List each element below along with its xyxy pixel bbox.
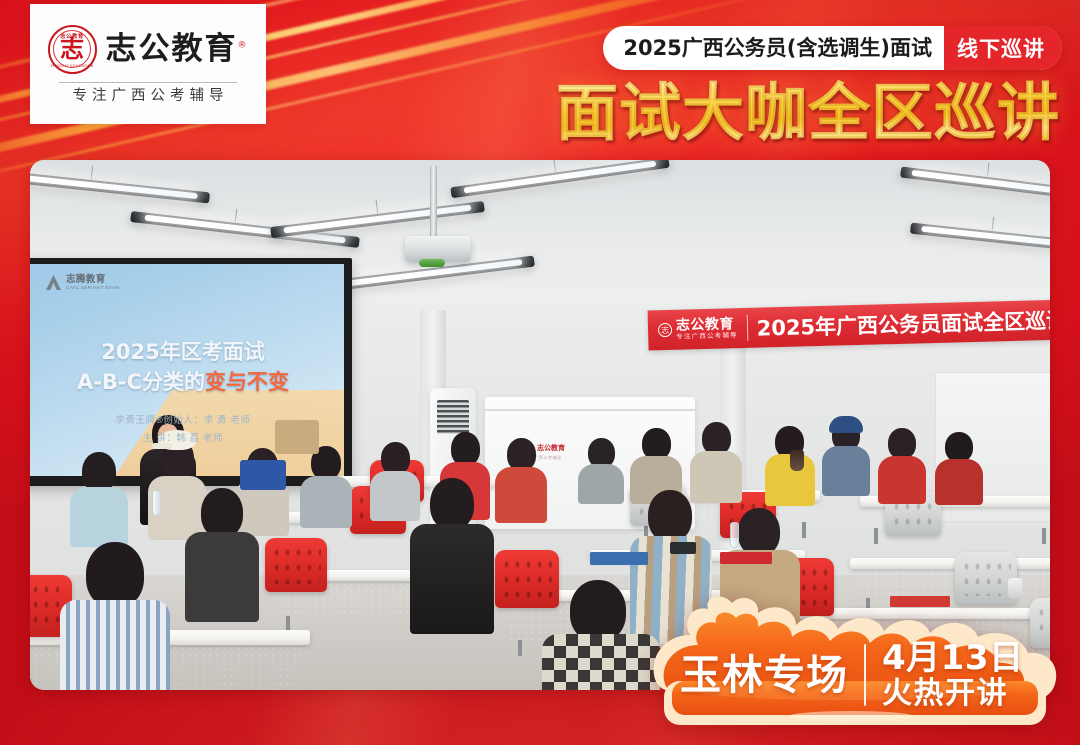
projector-pole [430,166,437,238]
session-subtitle: 火热开讲 [882,677,1023,711]
cabinet-line [485,409,695,411]
brand-name: 志公教育® [106,34,249,65]
student [185,488,259,618]
logo-divider [59,82,237,83]
session-date-block: 4月13日 火热开讲 [882,639,1023,711]
water-bottle [152,490,161,516]
cap-icon [829,416,863,433]
slide-logo: 志腾教育 CIVIC SERVANT EXAM [46,275,119,290]
event-title-text: 2025广西公务员(含选调生)面试 [623,38,944,59]
slide-credits: 李勇王牌®创始人：李 勇 老师 主 讲：韩 荔 老师 [30,412,344,447]
brand-name-text: 志公教育 [106,31,238,67]
student [935,432,983,504]
seal-bottom-text: ZHIGONG EDUCATION [50,64,95,68]
session-city: 玉林专场 [680,655,848,696]
wall-banner-divider [746,315,748,341]
student [410,478,494,630]
student [542,580,660,690]
student [70,452,128,544]
brand-seal-icon: 志公教育 志 ZHIGONG EDUCATION [48,25,97,74]
slide-logo-mark-icon [46,275,61,290]
student [690,422,742,500]
notebook [590,552,648,565]
wall-banner-brand-sub: 专注广西公考辅导 [676,332,738,341]
drink-cup [790,450,804,471]
student-with-cap [822,416,870,494]
bag [240,460,286,490]
slide-logo-name: 志腾教育 [66,275,119,285]
projection-screen: 志腾教育 CIVIC SERVANT EXAM 2025年区考面试 A-B-C分… [30,264,344,476]
event-titlebar: 2025广西公务员(含选调生)面试 线下巡讲 [603,26,1062,70]
slide-logo-sub: CIVIC SERVANT EXAM [66,285,119,290]
brand-tagline: 专注广西公考辅导 [68,89,229,104]
slide-title-line1: 2025年区考面试 [30,338,344,368]
brand-logo-plate: 志公教育 志 ZHIGONG EDUCATION 志公教育® 专注广西公考辅导 [30,4,266,124]
student [60,542,170,690]
registered-mark-icon: ® [238,40,249,50]
wall-banner-text: 2025年广西公务员面试全区巡讲·5 [756,304,1050,343]
student [878,428,926,502]
flame-badge: 玉林专场 4月13日 火热开讲 [646,595,1064,735]
promo-poster: 志公教育 志 ZHIGONG EDUCATION 志公教育® 专注广西公考辅导 … [0,0,1080,745]
notebook [720,552,772,564]
slide-credit-line2: 主 讲：韩 荔 老师 [30,430,344,448]
brand-logo-row: 志公教育 志 ZHIGONG EDUCATION 志公教育® [48,25,249,74]
slide-title-line2-highlight: 变与不变 [205,370,289,394]
slide-title-line2-plain: A-B-C分类的 [77,370,205,394]
slide-credit-line1: 李勇王牌®创始人：李 勇 老师 [30,412,344,430]
student [300,446,352,526]
water-bottle [730,522,739,548]
student [495,438,547,522]
projector [405,236,471,262]
student [578,438,624,502]
session-date: 4月13日 [882,639,1023,677]
main-headline: 面试大咖全区巡讲 [556,80,1060,145]
wall-banner-seal-icon [658,323,672,337]
slide-title-line2: A-B-C分类的变与不变 [30,368,344,398]
slide-title: 2025年区考面试 A-B-C分类的变与不变 [30,338,344,398]
phone [670,542,696,554]
ac-vent [437,400,469,434]
flame-badge-divider [864,644,866,706]
chair [265,538,327,592]
event-type-badge: 线下巡讲 [944,26,1062,70]
flame-badge-content: 玉林专场 4月13日 火热开讲 [680,637,1044,713]
wall-banner-logo: 志公教育 专注广西公考辅导 [648,316,738,342]
